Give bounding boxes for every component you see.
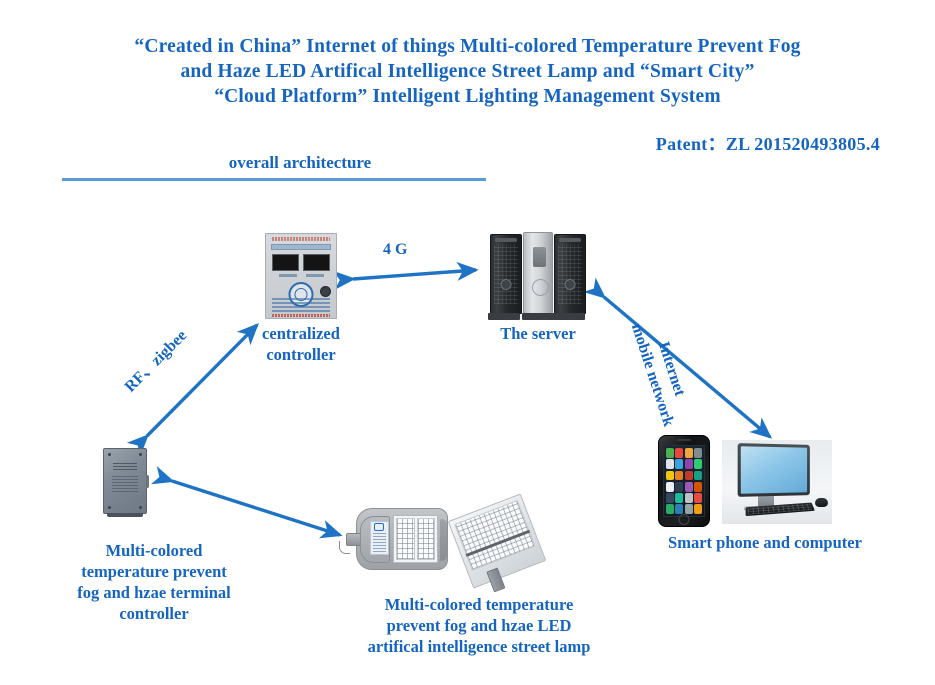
terminal-screw-icon-br [139, 506, 142, 509]
caption-smart-phone-and-computer: Smart phone and computer [620, 532, 910, 553]
led-street-lamp-image [346, 500, 540, 588]
controller-top-text [272, 237, 330, 241]
terminal-screw-icon-tr [139, 453, 142, 456]
page-title-line-1: “Created in China” Internet of things Mu… [60, 34, 875, 59]
lamp-led-array [393, 515, 438, 563]
caption-street-lamp: Multi-colored temperature prevent fog an… [329, 594, 629, 657]
page-title: “Created in China” Internet of things Mu… [60, 34, 875, 109]
arrow-controller-to-server [353, 270, 476, 279]
caption-server: The server [478, 323, 598, 344]
edge-label-4g: 4 G [383, 240, 407, 260]
caption-centralized-controller: centralized controller [236, 323, 366, 365]
phone-body [658, 435, 710, 527]
server-brand-logo-icon-right [565, 279, 576, 290]
terminal-controller-box-image [103, 448, 147, 514]
street-lamp-angled-view [448, 493, 547, 588]
terminal-side-tab [146, 475, 149, 488]
arrow-terminal-to-lamp [172, 481, 340, 535]
terminal-screw-icon-bl [108, 506, 111, 509]
server-brand-logo-icon [501, 279, 512, 290]
tower-server-image [484, 228, 592, 320]
phone-earpiece-icon [677, 439, 691, 441]
page-title-line-3: “Cloud Platform” Intelligent Lighting Ma… [60, 84, 875, 109]
controller-company-text [272, 298, 330, 312]
controller-knob-icon [320, 286, 331, 297]
controller-displays [272, 254, 330, 271]
edge-label-internet-mobile-network: Internet mobile network [626, 315, 697, 429]
server-top-bezel [495, 238, 517, 242]
controller-display-labels [274, 274, 328, 278]
phone-home-button[interactable] [679, 514, 690, 525]
caption-terminal-controller: Multi-colored temperature prevent fog an… [34, 540, 274, 624]
controller-header-bar [271, 244, 331, 250]
controller-panel-image [265, 233, 337, 319]
server-base-right [553, 313, 585, 320]
lamp-brand-badge-icon [374, 523, 384, 531]
server-top-bezel-right [559, 238, 581, 242]
terminal-printed-text [113, 463, 137, 470]
server-tower-middle [523, 232, 553, 314]
lamp-rear-housing [440, 519, 447, 561]
lamp-led-module-2 [417, 518, 436, 560]
street-lamp-front-view [356, 508, 448, 570]
section-heading: overall architecture [60, 153, 540, 173]
lamp-mounting-bracket [486, 568, 505, 593]
controller-display-right [303, 254, 330, 271]
terminal-embossed-area [112, 476, 138, 492]
computer-monitor [738, 443, 810, 497]
terminal-enclosure [103, 448, 147, 514]
server-tower-right [554, 234, 586, 314]
terminal-base-edge [107, 513, 143, 517]
section-divider [62, 178, 486, 181]
controller-bottom-text [272, 314, 330, 317]
server-base-left [488, 313, 520, 320]
controller-panel-body [265, 233, 337, 319]
smart-phone-image [658, 435, 710, 527]
controller-display-left [272, 254, 299, 271]
edge-label-rf-zigbee: RF、zigbee [121, 326, 192, 397]
terminal-screw-icon-tl [108, 453, 111, 456]
phone-home-screen [663, 445, 705, 517]
lamp-led-module-1 [396, 518, 415, 560]
computer-mouse [815, 498, 828, 507]
computer-screen [741, 446, 807, 494]
page-title-line-2: and Haze LED Artifical Intelligence Stre… [60, 59, 875, 84]
server-tower-left [490, 234, 522, 314]
server-base-middle [522, 313, 554, 320]
desktop-computer-image [722, 440, 832, 524]
